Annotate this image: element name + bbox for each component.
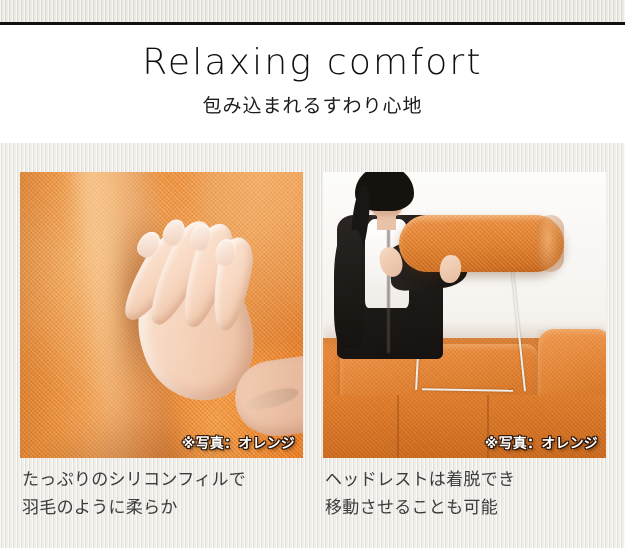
woman-removing-headrest-photo: ※写真：オレンジ xyxy=(323,172,606,458)
photo-note-badge: ※写真：オレンジ xyxy=(182,433,295,453)
header-banner: Relaxing comfort 包み込まれるすわり心地 xyxy=(0,25,625,143)
left-hand xyxy=(377,245,405,279)
woman-hands-layer xyxy=(331,172,478,378)
top-texture-strip xyxy=(0,0,625,22)
hand-pressing-orange-fabric-photo: ※写真：オレンジ xyxy=(20,172,303,458)
photo-note-badge: ※写真：オレンジ xyxy=(485,433,598,453)
caption-line: 羽毛のように柔らか xyxy=(22,495,303,523)
caption-line: たっぷりのシリコンフィルで xyxy=(22,467,303,495)
caption-line: ヘッドレストは着脱でき xyxy=(325,467,606,495)
sofa-seam-left xyxy=(397,395,399,458)
feature-card-headrest: ※写真：オレンジ ヘッドレストは着脱でき 移動させることも可能 xyxy=(323,172,606,522)
caption-line: 移動させることも可能 xyxy=(325,495,606,523)
right-hand xyxy=(439,254,463,284)
human-hand xyxy=(133,215,303,438)
feature-caption-headrest: ヘッドレストは着脱でき 移動させることも可能 xyxy=(323,467,606,522)
headrest-end-cap xyxy=(537,215,563,272)
feature-caption-fabric: たっぷりのシリコンフィルで 羽毛のように柔らか xyxy=(20,467,303,522)
page-subtitle: 包み込まれるすわり心地 xyxy=(202,95,422,118)
feature-card-fabric: ※写真：オレンジ たっぷりのシリコンフィルで 羽毛のように柔らか xyxy=(20,172,303,522)
page-title: Relaxing comfort xyxy=(142,44,482,82)
